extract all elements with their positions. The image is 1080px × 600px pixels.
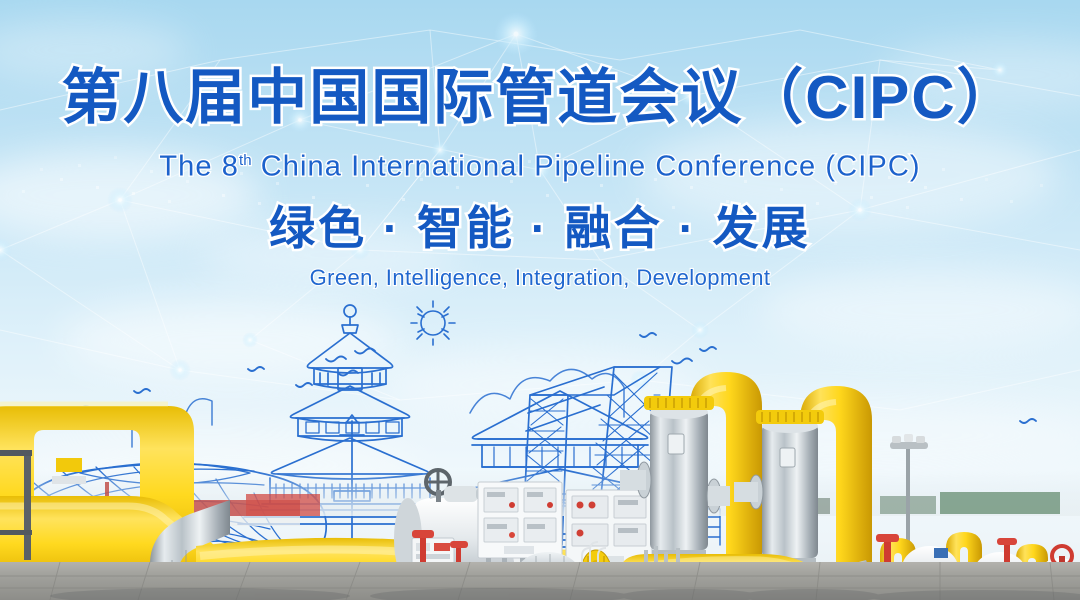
title-en-prefix: The 8 <box>159 151 239 183</box>
banner-text-block: 第八届中国国际管道会议（CIPC） The 8th China Internat… <box>0 0 1080 310</box>
tagline-chinese: 绿色 · 智能 · 融合 · 发展 <box>0 200 1080 256</box>
title-en-ordinal: th <box>239 152 252 169</box>
instrument-box <box>412 538 454 564</box>
conference-banner: 第八届中国国际管道会议（CIPC） The 8th China Internat… <box>0 0 1080 600</box>
blue-valve <box>934 548 948 558</box>
page-title: 第八届中国国际管道会议（CIPC） <box>0 64 1080 132</box>
pipeline-station-photo <box>0 300 1080 600</box>
tagline-english: Green, Intelligence, Integration, Develo… <box>0 264 1080 292</box>
title-en-rest: China International Pipeline Conference … <box>252 151 921 183</box>
page-title-english: The 8th China International Pipeline Con… <box>0 143 1080 185</box>
